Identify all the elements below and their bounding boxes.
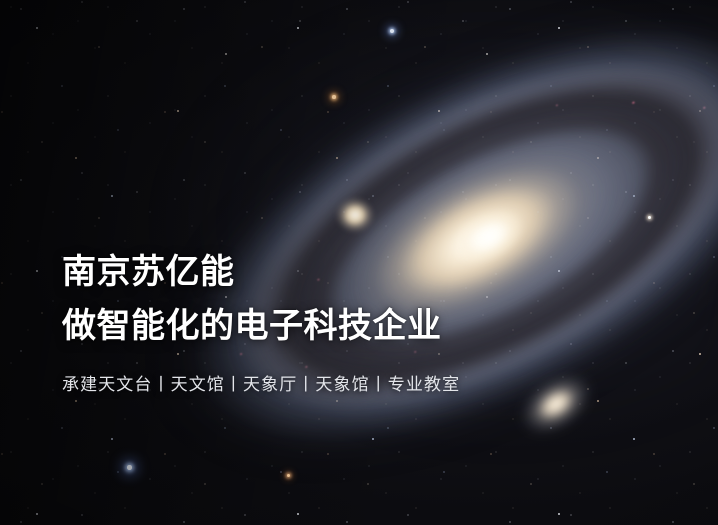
hero-subtitle: 承建天文台丨天文馆丨天象厅丨天象馆丨专业教室 [62,370,662,395]
bright-star-blue-upper [390,29,394,33]
bright-star-orange-lower [287,474,290,477]
bright-star-blue-lower [127,465,132,470]
hero-copy-block: 南京苏亿能 做智能化的电子科技企业 承建天文台丨天文馆丨天象厅丨天象馆丨专业教室 [62,246,662,395]
hero-headline-line1: 南京苏亿能 [62,246,662,300]
hero-headline-line2: 做智能化的电子科技企业 [62,300,662,354]
bright-star-white-right [648,216,651,219]
hero-banner: 南京苏亿能 做智能化的电子科技企业 承建天文台丨天文馆丨天象厅丨天象馆丨专业教室 [0,0,718,525]
bright-star-orange-upper [332,95,336,99]
